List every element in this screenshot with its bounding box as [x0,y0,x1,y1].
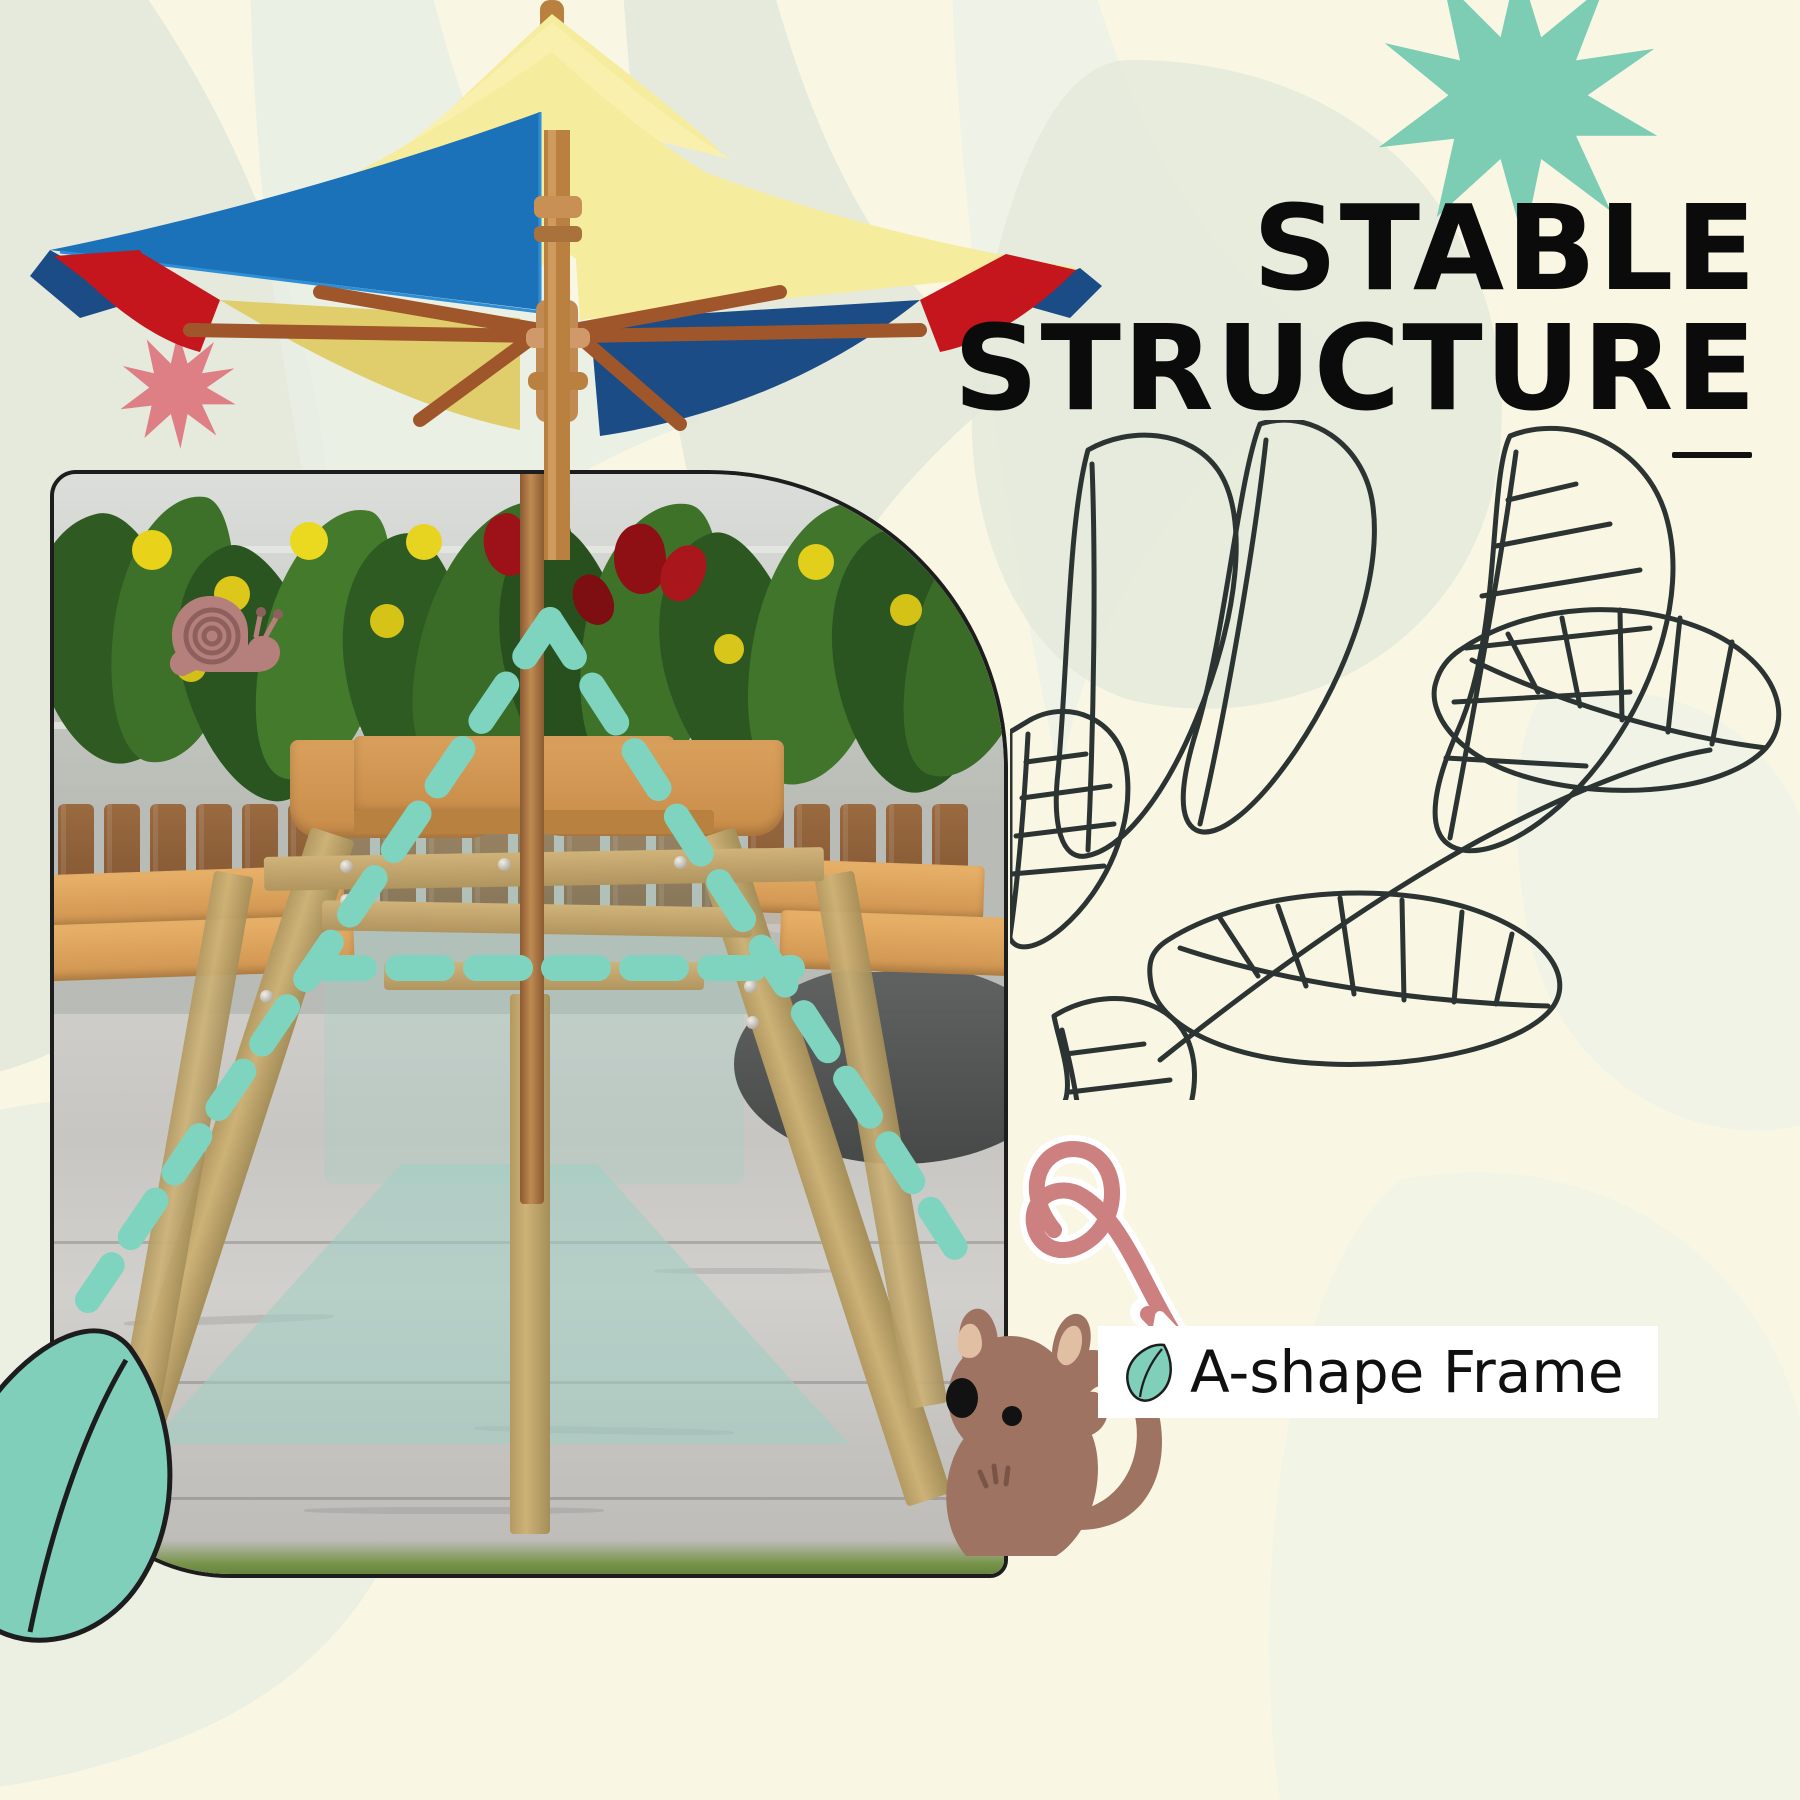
leaf-icon [1124,1341,1176,1403]
badge-label: A-shape Frame [1190,1338,1624,1406]
page-title: STABLE STRUCTURE [878,188,1758,429]
table-rail [384,962,704,990]
bench-slat [779,910,1004,976]
title-line-1: STABLE [1253,179,1758,317]
title-line-2: STRUCTURE [878,308,1758,428]
mint-leaf-decoration [0,1320,200,1650]
a-shape-frame-badge[interactable]: A-shape Frame [1098,1326,1658,1418]
umbrella-pole [520,474,544,1204]
title-underline-rule [1672,452,1752,458]
snail-icon [160,592,290,692]
poster-canvas: STABLE STRUCTURE [0,0,1800,1800]
botanical-lineart-decoration [1010,420,1800,1100]
